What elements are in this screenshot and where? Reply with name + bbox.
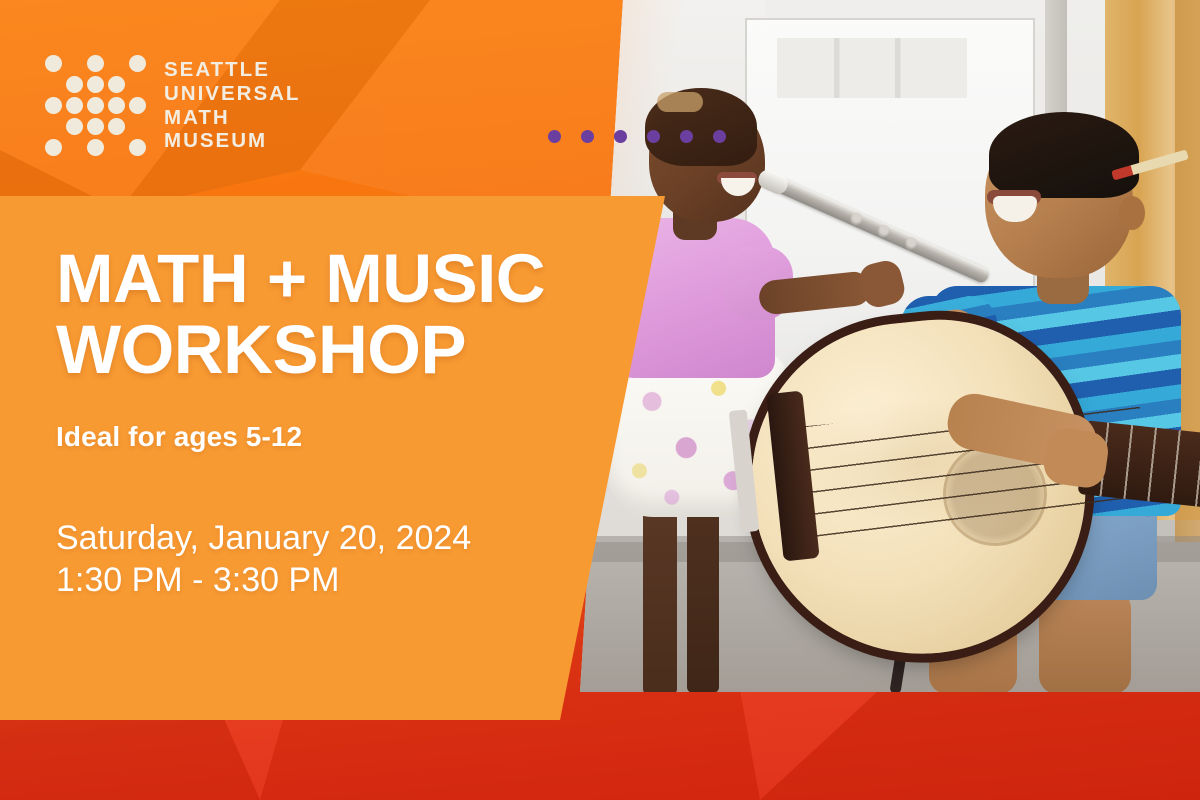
event-time: 1:30 PM - 3:30 PM — [56, 559, 616, 601]
logo-wordmark: SEATTLE UNIVERSAL MATH MUSEUM — [164, 58, 300, 153]
logo-line-3: MATH — [164, 106, 300, 130]
logo-line-4: MUSEUM — [164, 129, 300, 153]
logo-line-1: SEATTLE — [164, 58, 300, 82]
page-title: MATH + MUSIC WORKSHOP — [56, 243, 616, 385]
seattle-universal-math-museum-logo[interactable]: SEATTLE UNIVERSAL MATH MUSEUM — [45, 55, 300, 156]
purple-dot-rule — [548, 130, 726, 143]
purple-dot — [581, 130, 594, 143]
logo-line-2: UNIVERSAL — [164, 82, 300, 106]
children-playing-music-photo — [545, 0, 1200, 692]
age-range-subhead: Ideal for ages 5-12 — [56, 421, 616, 453]
purple-dot — [680, 130, 693, 143]
headline-line-1: MATH + MUSIC — [56, 240, 545, 317]
poster-copy: MATH + MUSIC WORKSHOP Ideal for ages 5-1… — [56, 243, 616, 601]
event-poster: SEATTLE UNIVERSAL MATH MUSEUM MATH + MUS… — [0, 0, 1200, 800]
event-datetime: Saturday, January 20, 2024 1:30 PM - 3:3… — [56, 517, 616, 601]
math-museum-dot-grid-icon — [45, 55, 146, 156]
headline-line-2: WORKSHOP — [56, 314, 616, 385]
purple-dot — [548, 130, 561, 143]
purple-dot — [614, 130, 627, 143]
purple-dot — [647, 130, 660, 143]
event-date: Saturday, January 20, 2024 — [56, 517, 616, 559]
purple-dot — [713, 130, 726, 143]
